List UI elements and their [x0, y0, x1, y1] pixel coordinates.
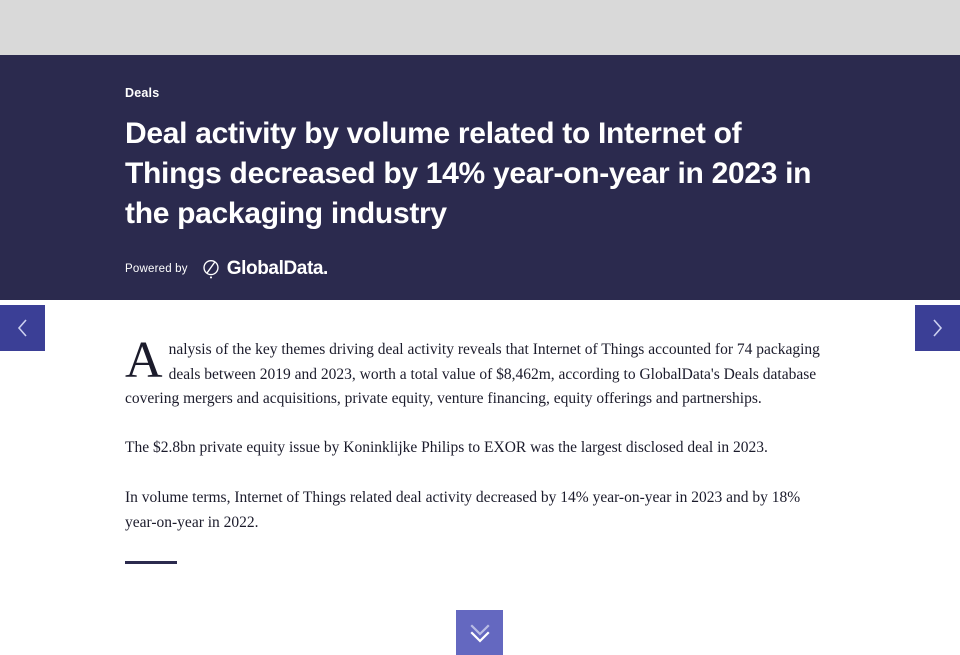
article-header: Deals Deal activity by volume related to… — [0, 55, 960, 300]
globaldata-logo: GlobalData. — [200, 258, 328, 280]
article-paragraph-1: Analysis of the key themes driving deal … — [125, 338, 831, 412]
powered-by-row: Powered by GlobalData. — [125, 258, 835, 280]
previous-slide-button[interactable] — [0, 305, 45, 351]
powered-by-label: Powered by — [125, 263, 188, 275]
article-paragraph-3: In volume terms, Internet of Things rela… — [125, 486, 831, 535]
globaldata-wordmark: GlobalData. — [227, 259, 328, 278]
scroll-down-button[interactable] — [456, 610, 503, 655]
article-body: Analysis of the key themes driving deal … — [0, 300, 960, 655]
chevron-right-icon — [931, 318, 944, 338]
page-title: Deal activity by volume related to Inter… — [125, 114, 835, 234]
globaldata-circle-slash-icon — [200, 258, 222, 280]
next-slide-button[interactable] — [915, 305, 960, 351]
chevron-left-icon — [16, 318, 29, 338]
section-divider — [125, 561, 177, 564]
category-kicker: Deals — [125, 87, 835, 100]
double-chevron-down-icon — [468, 620, 492, 646]
top-bar — [0, 0, 960, 55]
article-paragraph-2: The $2.8bn private equity issue by Konin… — [125, 436, 831, 461]
